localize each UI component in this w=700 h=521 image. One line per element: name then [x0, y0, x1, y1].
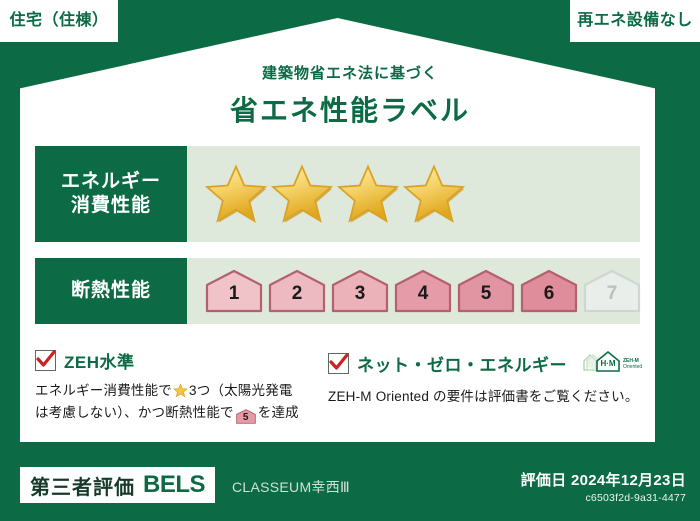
netzero-note-body: ZEH-M Oriented の要件は評価書をご覧ください。: [328, 386, 643, 408]
page-title: 省エネ性能ラベル: [0, 89, 700, 129]
zeh-note-text-3: は考慮しない）、かつ断熱性能で: [35, 405, 234, 420]
inline-grade-value: 5: [236, 409, 256, 427]
zeh-note-text-1: エネルギー消費性能で: [35, 383, 172, 398]
project-name: CLASSEUM幸西Ⅲ: [232, 477, 350, 497]
zeh-note-body: エネルギー消費性能で 3つ（太陽光発電 は考慮しない）、かつ断熱性能で 5 を達…: [35, 380, 306, 424]
footer-bar: 第三者評価 BELS CLASSEUM幸西Ⅲ 評価日 2024年12月23日 c…: [0, 459, 700, 521]
renewable-energy-tag-label: 再エネ設備なし: [577, 13, 693, 29]
energy-performance-label-line1: エネルギー: [61, 170, 161, 194]
inline-star-icon: [173, 383, 188, 398]
energy-performance-body: [187, 146, 640, 242]
star-icon-filled: [337, 163, 399, 225]
renewable-energy-tag: 再エネ設備なし: [570, 0, 700, 42]
svg-text:H·M: H·M: [600, 359, 615, 368]
zeh-note-title: ZEH水準: [64, 348, 135, 373]
insulation-performance-body: 1234567: [187, 258, 641, 324]
insulation-grade-badge-filled: 1: [205, 269, 263, 313]
zeh-note-text-4: を達成: [258, 405, 299, 420]
evaluation-id: c6503f2d-9a31-4477: [521, 492, 686, 504]
insulation-grade-value: 7: [607, 284, 618, 313]
evaluation-info: 評価日 2024年12月23日 c6503f2d-9a31-4477: [521, 469, 686, 504]
bels-energy-label: 住宅（住棟） 再エネ設備なし 建築物省エネ法に基づく 省エネ性能ラベル エネルギ…: [0, 0, 700, 521]
star-icon-filled: [403, 163, 465, 225]
insulation-performance-label-line1: 断熱性能: [71, 279, 151, 303]
insulation-grade-badge-filled: 6: [520, 269, 578, 313]
evaluation-date: 評価日 2024年12月23日: [521, 469, 686, 490]
netzero-checkbox-checked-icon: [328, 353, 349, 374]
bels-badge-en-label: BELS: [143, 471, 205, 499]
insulation-grade-badge-empty: 7: [583, 269, 641, 313]
insulation-grade-value: 1: [229, 284, 240, 313]
insulation-grade-badge-filled: 2: [268, 269, 326, 313]
star-rating: [205, 163, 465, 225]
insulation-performance-row: 断熱性能 1234567: [35, 258, 640, 324]
bels-badge-jp-label: 第三者評価: [30, 471, 135, 500]
zeh-note-text-2: 3つ（太陽光発電: [189, 383, 293, 398]
netzero-note-head: ネット・ゼロ・エネルギー H·M ZEH-M Oriented: [328, 348, 643, 379]
zeh-note-head: ZEH水準: [35, 348, 306, 373]
star-icon-filled: [271, 163, 333, 225]
notes-section: ZEH水準 エネルギー消費性能で 3つ（太陽光発電 は考慮しない）、かつ断熱性能…: [35, 348, 643, 424]
insulation-grade-badge-filled: 5: [457, 269, 515, 313]
heading-subtitle: 建築物省エネ法に基づく: [0, 62, 700, 83]
zeh-note: ZEH水準 エネルギー消費性能で 3つ（太陽光発電 は考慮しない）、かつ断熱性能…: [35, 348, 306, 424]
netzero-note-title: ネット・ゼロ・エネルギー: [357, 351, 567, 376]
insulation-grade-value: 5: [481, 284, 492, 313]
heading-block: 建築物省エネ法に基づく 省エネ性能ラベル: [0, 62, 700, 129]
inline-grade-badge: 5: [236, 409, 256, 424]
building-type-tag-label: 住宅（住棟）: [9, 13, 108, 29]
zeh-m-oriented-logo-icon: H·M ZEH-M Oriented: [581, 348, 643, 379]
insulation-performance-label: 断熱性能: [35, 258, 187, 324]
insulation-grade-value: 4: [418, 284, 429, 313]
energy-performance-row: エネルギー 消費性能: [35, 146, 640, 242]
netzero-note: ネット・ゼロ・エネルギー H·M ZEH-M Oriented: [328, 348, 643, 424]
svg-text:Oriented: Oriented: [623, 364, 642, 370]
star-icon-filled: [205, 163, 267, 225]
insulation-grade-scale: 1234567: [205, 269, 641, 313]
insulation-grade-badge-filled: 4: [394, 269, 452, 313]
bels-badge: 第三者評価 BELS: [20, 467, 215, 503]
energy-performance-label: エネルギー 消費性能: [35, 146, 187, 242]
insulation-grade-value: 3: [355, 284, 366, 313]
energy-performance-label-line2: 消費性能: [71, 194, 151, 218]
insulation-grade-badge-filled: 3: [331, 269, 389, 313]
building-type-tag: 住宅（住棟）: [0, 0, 118, 42]
insulation-grade-value: 6: [544, 284, 555, 313]
insulation-grade-value: 2: [292, 284, 303, 313]
zeh-checkbox-checked-icon: [35, 350, 56, 371]
